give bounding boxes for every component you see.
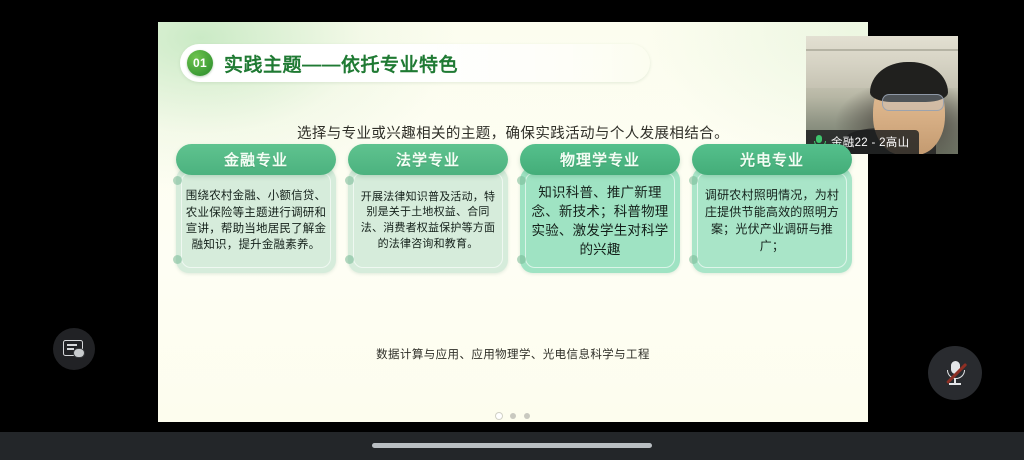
app-screen: 01 实践主题——依托专业特色 选择与专业或兴趣相关的主题，确保实践活动与个人发…: [0, 0, 1024, 432]
card-dot-bottom-icon: [689, 255, 698, 264]
pagination-dot-2[interactable]: [510, 413, 516, 419]
page-title: 实践主题——依托专业特色: [224, 50, 458, 77]
column-card-optoelectronics: 调研农村照明情况，为村庄提供节能高效的照明方案；光伏产业调研与推广；: [692, 167, 852, 273]
system-navigation-bar: [0, 432, 1024, 460]
column-card-law: 开展法律知识普及活动，特别是关于土地权益、合同法、消费者权益保护等方面的法律咨询…: [348, 167, 508, 273]
column-body-law: 开展法律知识普及活动，特别是关于土地权益、合同法、消费者权益保护等方面的法律咨询…: [356, 190, 500, 252]
card-dot-top-icon: [517, 176, 526, 185]
column-body-finance: 围绕农村金融、小额信贷、农业保险等主题进行调研和宣讲，帮助当地居民了解金融知识，…: [184, 188, 328, 253]
slide-title-bar: 01 实践主题——依托专业特色: [180, 44, 650, 82]
microphone-muted-icon: [944, 360, 966, 386]
column-heading-optoelectronics: 光电专业: [692, 144, 852, 175]
card-dot-bottom-icon: [517, 255, 526, 264]
column-heading-law: 法学专业: [348, 144, 508, 175]
microphone-mute-button[interactable]: [928, 346, 982, 400]
column-body-physics: 知识科普、推广新理念、新技术；科普物理实验、激发学生对科学的兴趣: [528, 183, 672, 260]
major-columns: 金融专业 围绕农村金融、小额信贷、农业保险等主题进行调研和宣讲，帮助当地居民了解…: [176, 144, 852, 273]
pagination-dot-3[interactable]: [524, 413, 530, 419]
card-dot-top-icon: [345, 176, 354, 185]
column-card-physics: 知识科普、推广新理念、新技术；科普物理实验、激发学生对科学的兴趣: [520, 167, 680, 273]
slide-footnote: 数据计算与应用、应用物理学、光电信息科学与工程: [158, 346, 868, 362]
whiteboard-icon: [63, 340, 85, 358]
participant-video-tile[interactable]: 金融22 - 2高山: [806, 36, 958, 154]
slide-number-badge: 01: [187, 50, 213, 76]
video-ceiling-line: [806, 49, 958, 51]
pagination-dot-1[interactable]: [496, 413, 502, 419]
column-law: 法学专业 开展法律知识普及活动，特别是关于土地权益、合同法、消费者权益保护等方面…: [348, 144, 508, 273]
whiteboard-button[interactable]: [53, 328, 95, 370]
card-dot-bottom-icon: [345, 255, 354, 264]
column-optoelectronics: 光电专业 调研农村照明情况，为村庄提供节能高效的照明方案；光伏产业调研与推广；: [692, 144, 852, 273]
column-card-finance: 围绕农村金融、小额信贷、农业保险等主题进行调研和宣讲，帮助当地居民了解金融知识，…: [176, 167, 336, 273]
column-physics: 物理学专业 知识科普、推广新理念、新技术；科普物理实验、激发学生对科学的兴趣: [520, 144, 680, 273]
column-heading-physics: 物理学专业: [520, 144, 680, 175]
card-dot-bottom-icon: [173, 255, 182, 264]
card-dot-top-icon: [173, 176, 182, 185]
slide-pagination[interactable]: [158, 413, 868, 419]
card-dot-top-icon: [689, 176, 698, 185]
glasses-icon: [882, 94, 944, 111]
column-body-optoelectronics: 调研农村照明情况，为村庄提供节能高效的照明方案；光伏产业调研与推广；: [700, 187, 844, 255]
column-finance: 金融专业 围绕农村金融、小额信贷、农业保险等主题进行调研和宣讲，帮助当地居民了解…: [176, 144, 336, 273]
home-indicator[interactable]: [372, 443, 652, 448]
slide-subtitle: 选择与专业或兴趣相关的主题，确保实践活动与个人发展相结合。: [158, 122, 868, 143]
shared-slide[interactable]: 01 实践主题——依托专业特色 选择与专业或兴趣相关的主题，确保实践活动与个人发…: [158, 22, 868, 422]
column-heading-finance: 金融专业: [176, 144, 336, 175]
